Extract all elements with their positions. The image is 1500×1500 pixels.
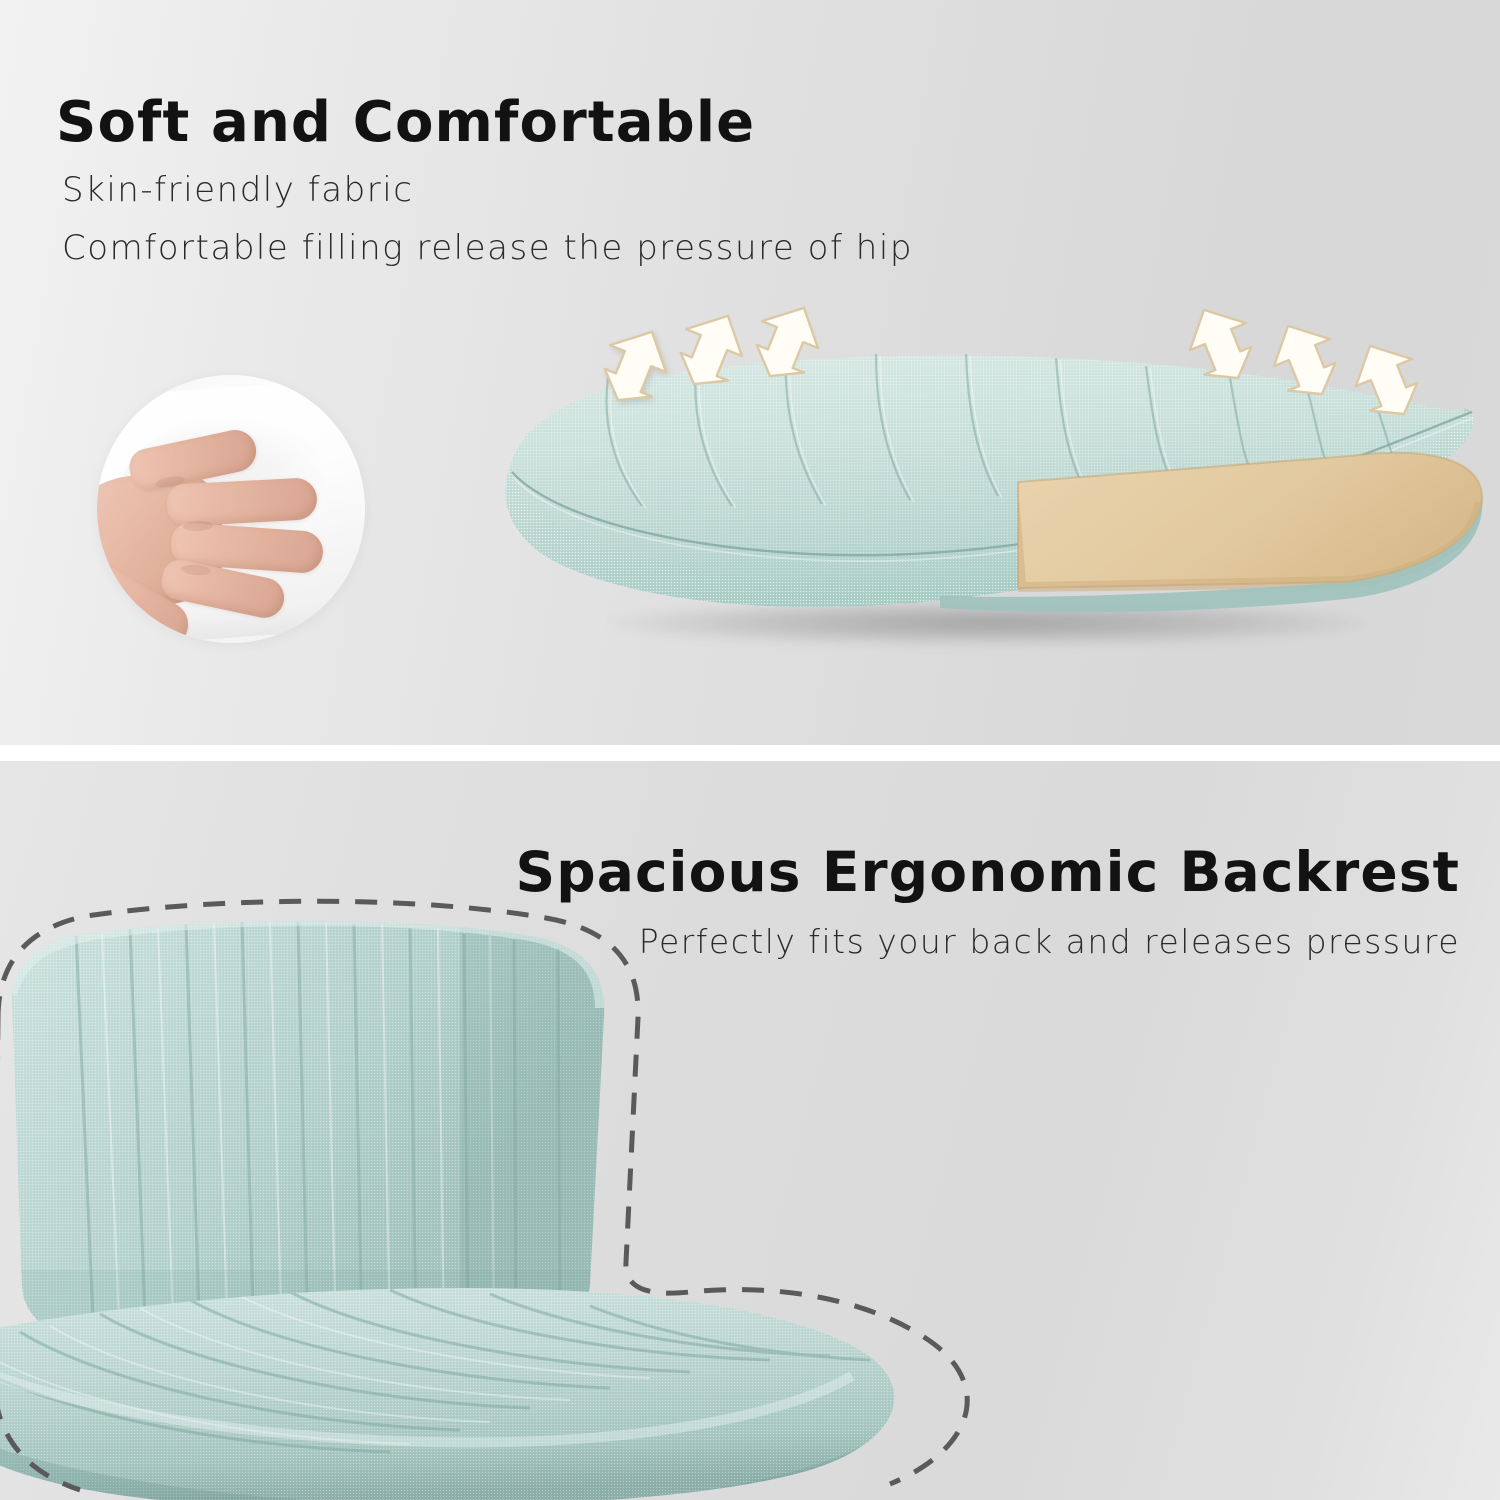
- chair-illustration: [0, 890, 1050, 1500]
- product-infographic-page: Soft and Comfortable Skin-friendly fabri…: [0, 0, 1500, 1500]
- hand-graphic: [97, 433, 365, 633]
- pressure-arrow-3: [752, 300, 822, 384]
- pressure-arrow-4: [1186, 302, 1256, 386]
- seat-cushion-cutaway: [470, 300, 1500, 680]
- pressure-arrow-6: [1352, 338, 1422, 422]
- top-panel: Soft and Comfortable Skin-friendly fabri…: [0, 0, 1500, 745]
- pressure-arrow-5: [1270, 318, 1340, 402]
- top-panel-heading: Soft and Comfortable: [56, 90, 755, 155]
- panel-divider: [0, 745, 1500, 761]
- hand-pressing-foam-inset: [97, 375, 365, 643]
- top-panel-subheading-1: Skin-friendly fabric: [62, 170, 413, 210]
- pressure-arrow-1: [600, 324, 670, 408]
- top-panel-subheading-2: Comfortable filling release the pressure…: [62, 228, 913, 268]
- pressure-arrow-2: [676, 308, 746, 392]
- chair-backrest-and-seat: [0, 890, 1050, 1500]
- finger-middle: [166, 477, 318, 527]
